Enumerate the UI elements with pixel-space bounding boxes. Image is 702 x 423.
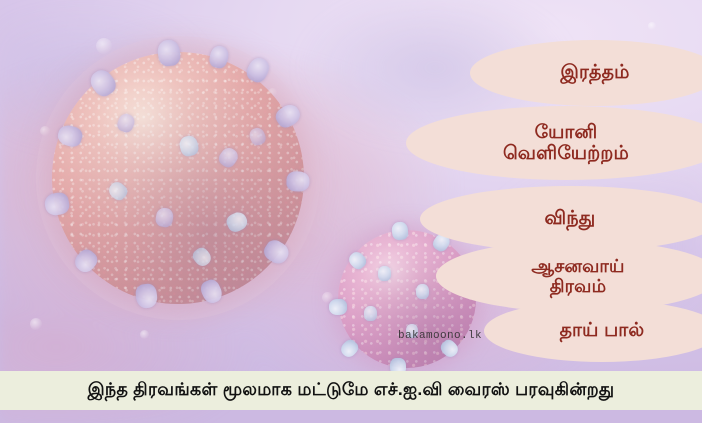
watermark: bakamoono.lk [398,330,482,342]
label-vaginal-discharge-text: யோனி வெளியேற்றம் [493,122,639,165]
spike-protein-icon [286,171,310,192]
hiv-virion-small [338,230,476,368]
label-semen-text: விந்து [535,208,606,229]
hiv-transmission-poster: இரத்தம் யோனி வெளியேற்றம் விந்து ஆசனவாய் … [0,0,702,423]
hiv-virion-large [52,52,304,304]
label-blood: இரத்தம் [470,40,702,106]
label-breast-milk-text: தாய் பால் [550,320,655,341]
spike-protein-icon [364,306,377,321]
spike-protein-icon [416,284,429,299]
spike-protein-icon [391,221,409,241]
label-breast-milk: தாய் பால் [484,300,702,362]
spike-protein-icon [329,299,348,316]
caption-bar: இந்த திரவங்கள் மூலமாக மட்டுமே எச்.ஐ.வி வ… [0,371,702,410]
caption-text: இந்த திரவங்கள் மூலமாக மட்டுமே எச்.ஐ.வி வ… [88,379,615,402]
spike-protein-icon [378,266,391,281]
label-anal-fluid-text: ஆசனவாய் திரவம் [521,256,634,296]
label-blood-text: இரத்தம் [550,62,639,83]
